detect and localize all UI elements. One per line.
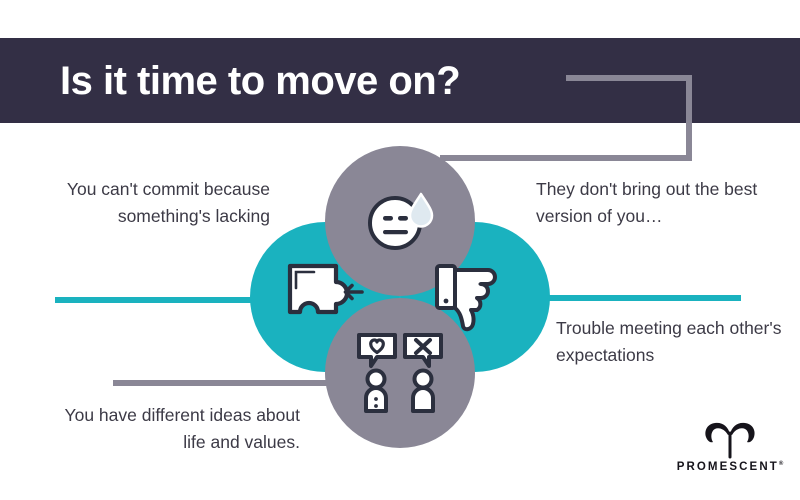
infographic-canvas: Is it time to move on? xyxy=(0,0,800,500)
logo-wordmark-text: PROMESCENT xyxy=(677,461,779,473)
connector-left-teal-rule xyxy=(55,297,255,303)
page-title: Is it time to move on? xyxy=(60,52,460,110)
connector-top-right-vertical xyxy=(686,75,692,161)
connector-top-right-horizontal-upper xyxy=(566,75,692,81)
promescent-ram-mark-icon xyxy=(702,420,758,460)
caption-top-left: You can't commit because something's lac… xyxy=(18,176,270,230)
caption-top-right: They don't bring out the best version of… xyxy=(536,176,798,230)
caption-bottom-left: You have different ideas about life and … xyxy=(38,402,300,456)
logo-wordmark: PROMESCENT® xyxy=(677,461,784,473)
connector-right-teal-rule xyxy=(545,295,741,301)
caption-bottom-right: Trouble meeting each other's expectation… xyxy=(556,315,796,369)
brand-logo: PROMESCENT® xyxy=(676,420,784,486)
two-people-speech-bubbles-icon xyxy=(325,298,475,448)
logo-trademark: ® xyxy=(779,461,783,467)
